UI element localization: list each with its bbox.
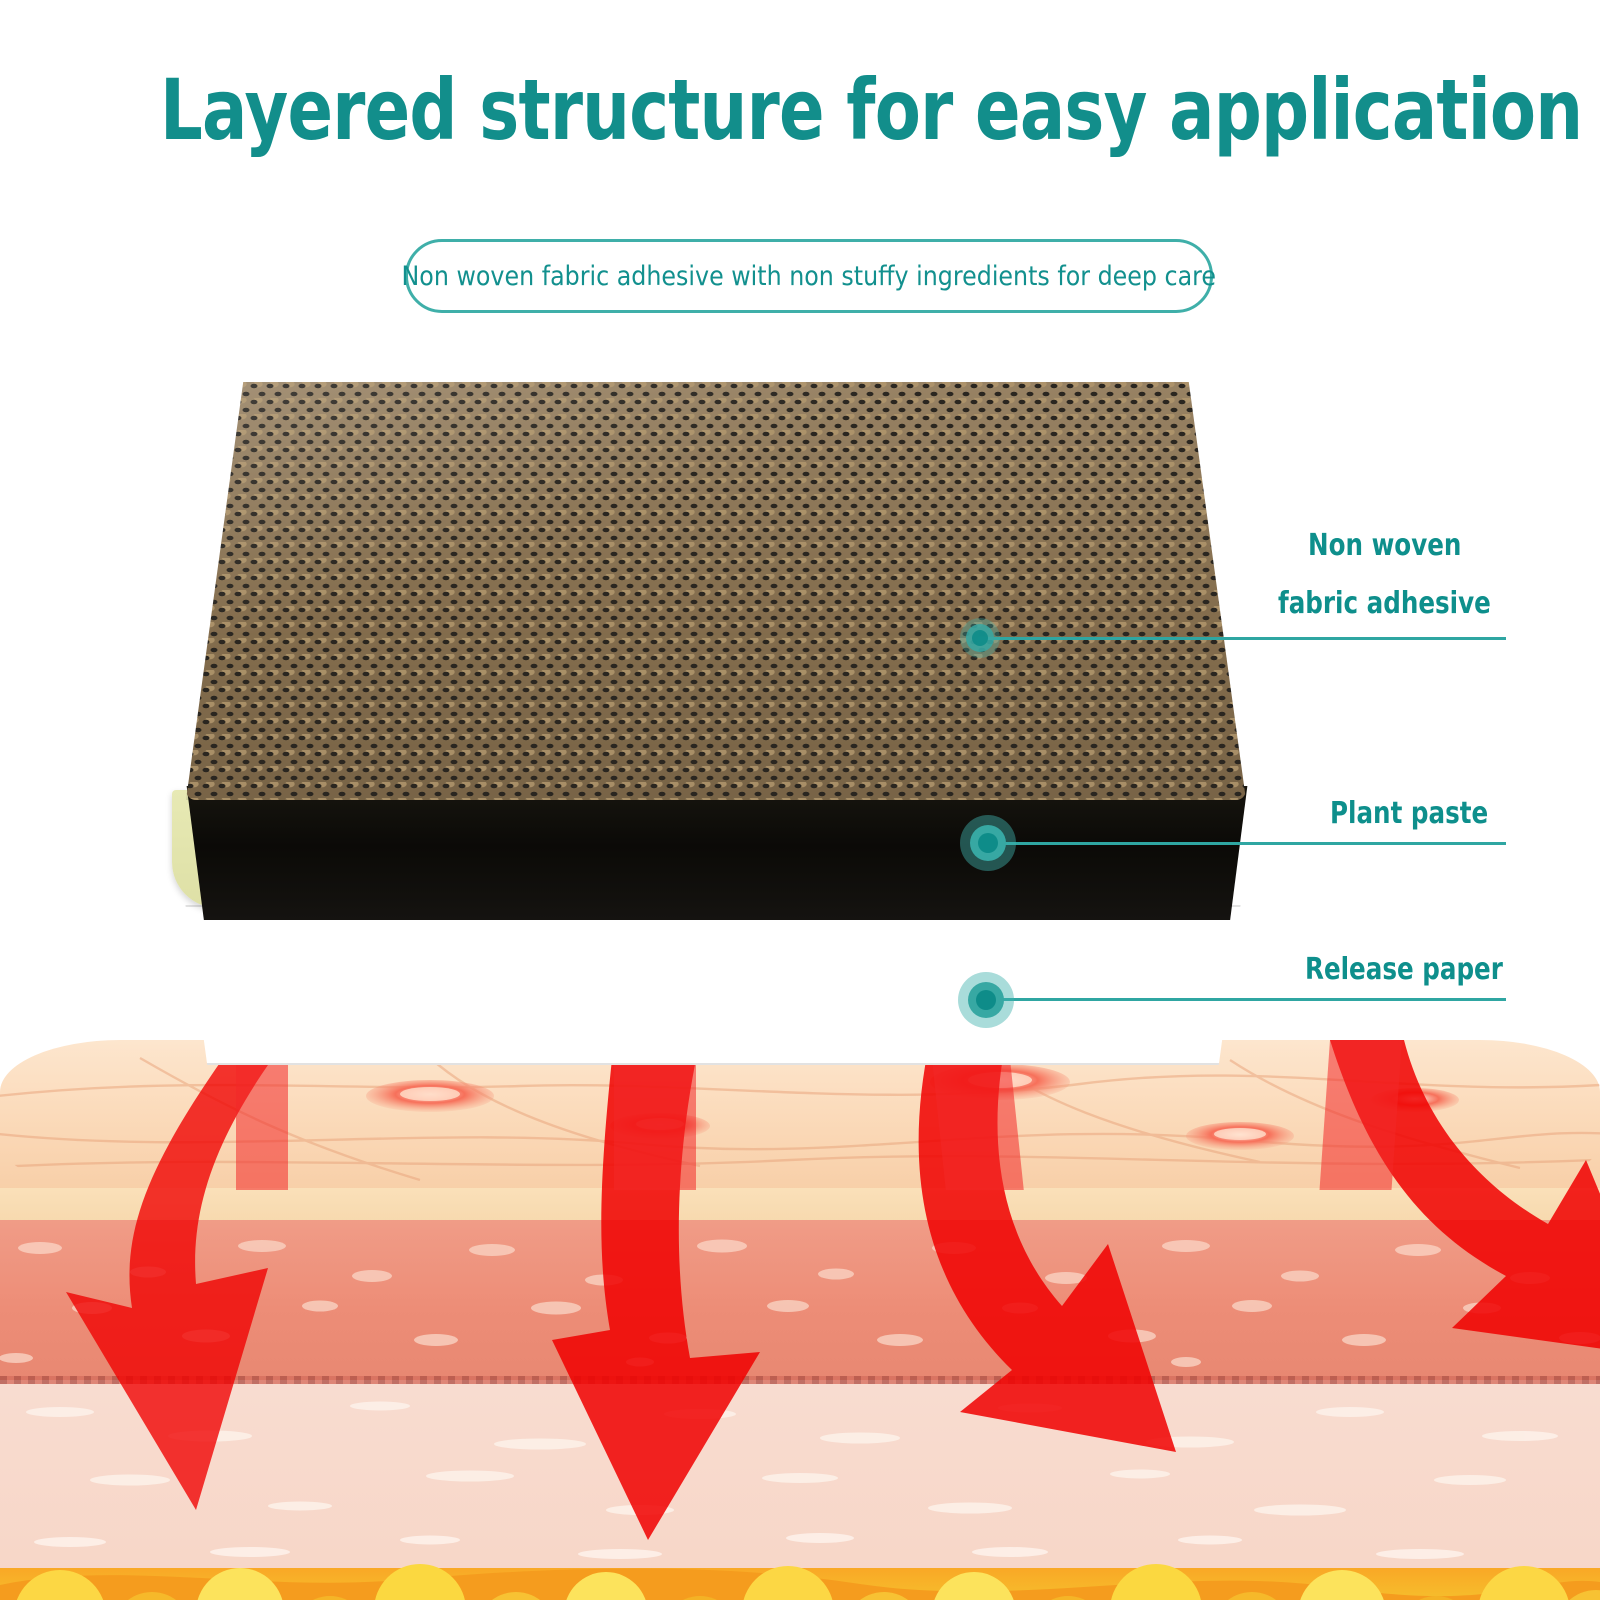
callout-label-plant-paste: Plant paste	[1330, 783, 1488, 845]
callout-dot-core-non-woven	[972, 630, 988, 646]
callout-label-non-woven-line1: Non woven	[1308, 515, 1461, 577]
page-title: Layered structure for easy application	[160, 62, 1440, 158]
callout-dot-core-release-paper	[976, 990, 996, 1010]
infographic-canvas: Layered structure for easy application N…	[0, 0, 1600, 1600]
layer-non-woven-fabric	[186, 382, 1246, 800]
fabric-sheen	[186, 382, 1246, 800]
subtitle-text: Non woven fabric adhesive with non stuff…	[402, 261, 1216, 292]
layer-plant-paste	[178, 786, 1256, 920]
callout-label-non-woven-line2: fabric adhesive	[1278, 573, 1491, 635]
callout-line-non-woven	[978, 637, 1506, 640]
penetration-arrows	[0, 1040, 1600, 1600]
callout-label-release-paper: Release paper	[1305, 939, 1503, 1001]
subtitle-pill: Non woven fabric adhesive with non stuff…	[405, 239, 1213, 313]
skin-cross-section	[0, 1040, 1600, 1600]
layer-release-paper	[168, 905, 1258, 1065]
callout-dot-core-plant-paste	[978, 833, 998, 853]
